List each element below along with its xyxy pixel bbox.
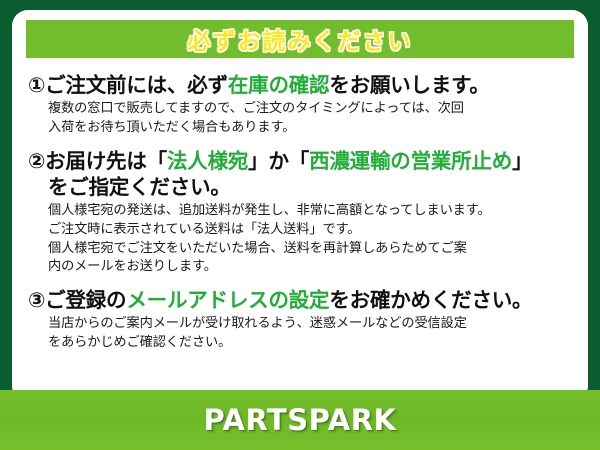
notice-item-2-heading-line-2: をご指定ください。 xyxy=(28,174,572,200)
notice-item-3-body-line-1: 当店からのご案内メールが受け取れるよう、迷惑メールなどの受信設定 xyxy=(48,315,572,334)
page-title: 必ずお読みください xyxy=(188,22,413,56)
notice-item-2-heading-part-1: ②お届け先は「 xyxy=(28,149,167,173)
notice-item-1-heading-part-1: ①ご注文前には、必ず xyxy=(28,73,228,97)
notice-item-2-body-line-2: ご注文時に表示されている送料は「法人送料」です。 xyxy=(48,221,572,240)
notice-item-1-heading-highlight: 在庫の確認 xyxy=(228,73,330,97)
notice-item-1-body-line-2: 入荷をお待ち頂いただく場合もあります。 xyxy=(48,119,572,138)
notice-item-2-body-line-4: 内のメールをお送りします。 xyxy=(48,258,572,277)
notice-item-1-heading: ①ご注文前には、必ず在庫の確認をお願いします。 xyxy=(28,72,572,98)
notice-item-3: ③ご登録のメールアドレスの設定をお確かめください。 当店からのご案内メールが受け… xyxy=(28,287,572,353)
notice-item-3-body: 当店からのご案内メールが受け取れるよう、迷惑メールなどの受信設定 をあらかじめご… xyxy=(28,315,572,352)
notice-card: 必ずお読みください ①ご注文前には、必ず在庫の確認をお願いします。 複数の窓口で… xyxy=(12,10,588,402)
notice-item-2-heading-part-3: 」か「 xyxy=(248,149,309,173)
notice-item-2: ②お届け先は「法人様宛」か「西濃運輸の営業所止め」 をご指定ください。 個人様宅… xyxy=(28,148,572,277)
notice-item-1-body-line-1: 複数の窓口で販売してますので、ご注文のタイミングによっては、次回 xyxy=(48,100,572,119)
notice-item-2-body: 個人様宅宛の発送は、追加送料が発生し、非常に高額となってしまいます。 ご注文時に… xyxy=(28,202,572,277)
notice-item-2-body-line-1: 個人様宅宛の発送は、追加送料が発生し、非常に高額となってしまいます。 xyxy=(48,202,572,221)
notice-item-1: ①ご注文前には、必ず在庫の確認をお願いします。 複数の窓口で販売してますので、ご… xyxy=(28,72,572,138)
notice-item-2-body-line-3: 個人様宅宛でご注文をいただいた場合、送料を再計算しあらためてご案 xyxy=(48,240,572,259)
notice-item-2-heading-highlight-2: 西濃運輸の営業所止め xyxy=(309,149,512,173)
notice-title-bar: 必ずお読みください xyxy=(26,20,574,58)
brand-footer-strip: PARTSPARK xyxy=(0,390,600,450)
notice-item-1-heading-part-3: をお願いします。 xyxy=(329,73,489,97)
notice-item-2-heading-part-5: 」 xyxy=(512,149,532,173)
notice-item-3-heading-part-3: をお確かめください。 xyxy=(329,288,532,312)
notice-item-2-heading-highlight-1: 法人様宛 xyxy=(167,149,248,173)
notice-item-3-body-line-2: をあらかじめご確認ください。 xyxy=(48,334,572,353)
notice-item-3-heading: ③ご登録のメールアドレスの設定をお確かめください。 xyxy=(28,287,572,313)
notice-item-3-heading-highlight: メールアドレスの設定 xyxy=(126,288,329,312)
notice-item-1-body: 複数の窓口で販売してますので、ご注文のタイミングによっては、次回 入荷をお待ち頂… xyxy=(28,100,572,137)
brand-wordmark: PARTSPARK xyxy=(203,403,396,437)
notice-item-2-heading: ②お届け先は「法人様宛」か「西濃運輸の営業所止め」 xyxy=(28,148,572,174)
notice-banner: 必ずお読みください ①ご注文前には、必ず在庫の確認をお願いします。 複数の窓口で… xyxy=(0,0,600,450)
notice-item-3-heading-part-1: ③ご登録の xyxy=(28,288,126,312)
notice-items-list: ①ご注文前には、必ず在庫の確認をお願いします。 複数の窓口で販売してますので、ご… xyxy=(26,66,574,353)
